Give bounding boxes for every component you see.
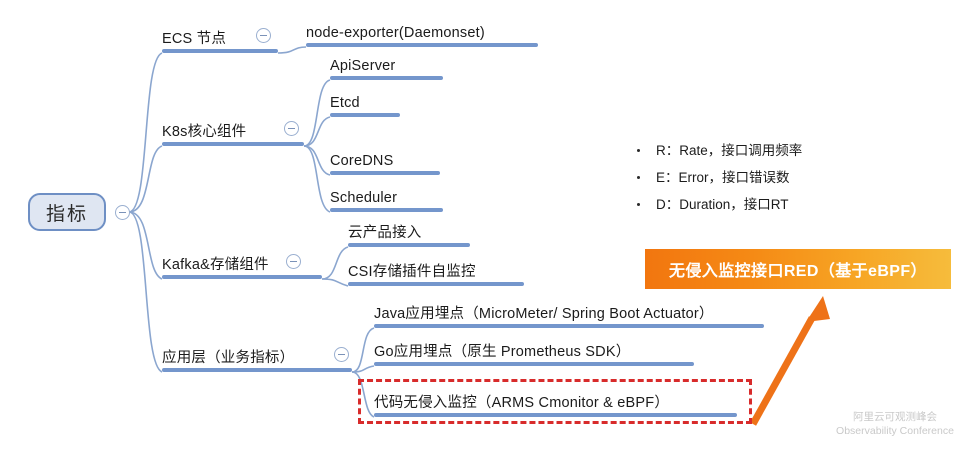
- branch-application[interactable]: 应用层（业务指标）: [162, 347, 352, 372]
- node-scheduler[interactable]: Scheduler: [330, 187, 443, 212]
- bullet-icon: [637, 149, 640, 152]
- watermark: 阿里云可观测峰会 Observability Conference: [832, 410, 958, 438]
- branch-application-collapse-toggle[interactable]: [334, 347, 349, 362]
- highlight-box: [358, 379, 752, 424]
- node-cloud-product-bar: [348, 243, 470, 247]
- watermark-line-en: Observability Conference: [832, 424, 958, 438]
- node-apiserver-label: ApiServer: [330, 58, 395, 75]
- bullet-icon: [637, 203, 640, 206]
- list-item-text: R：Rate，接口调用频率: [656, 143, 802, 158]
- list-item-text: E：Error，接口错误数: [656, 170, 790, 185]
- branch-kafka-bar: [162, 275, 322, 279]
- orange-arrow: [753, 296, 830, 424]
- branch-application-bar: [162, 368, 352, 372]
- branch-kafka-label: Kafka&存储组件: [162, 257, 269, 274]
- node-node-exporter-bar: [306, 43, 538, 47]
- list-item: E：Error，接口错误数: [630, 169, 930, 186]
- node-go-instrumentation-label: Go应用埋点（原生 Prometheus SDK）: [374, 344, 630, 361]
- node-go-instrumentation-bar: [374, 362, 694, 366]
- list-item-text: D：Duration，接口RT: [656, 197, 789, 212]
- node-java-instrumentation[interactable]: Java应用埋点（MicroMeter/ Spring Boot Actuato…: [374, 303, 764, 328]
- branch-k8s-collapse-toggle[interactable]: [284, 121, 299, 136]
- branch-k8s[interactable]: K8s核心组件: [162, 121, 304, 146]
- node-node-exporter-label: node-exporter(Daemonset): [306, 25, 485, 42]
- branch-k8s-bar: [162, 142, 304, 146]
- node-apiserver[interactable]: ApiServer: [330, 55, 443, 80]
- bullet-icon: [637, 176, 640, 179]
- root-node[interactable]: 指标: [28, 193, 106, 231]
- node-java-instrumentation-label: Java应用埋点（MicroMeter/ Spring Boot Actuato…: [374, 306, 714, 323]
- watermark-line-cn: 阿里云可观测峰会: [832, 410, 958, 424]
- mindmap-slide: 指标 ECS 节点 node-exporter(Daemonset) K8s核心…: [0, 0, 962, 456]
- node-node-exporter[interactable]: node-exporter(Daemonset): [306, 22, 538, 47]
- node-coredns[interactable]: CoreDNS: [330, 150, 440, 175]
- node-etcd-label: Etcd: [330, 95, 360, 112]
- node-java-instrumentation-bar: [374, 324, 764, 328]
- callout-banner: 无侵入监控接口RED（基于eBPF）: [645, 249, 951, 289]
- node-cloud-product-label: 云产品接入: [348, 225, 422, 242]
- branch-kafka-collapse-toggle[interactable]: [286, 254, 301, 269]
- branch-ecs-collapse-toggle[interactable]: [256, 28, 271, 43]
- branch-k8s-label: K8s核心组件: [162, 124, 246, 141]
- node-csi-storage-label: CSI存储插件自监控: [348, 264, 476, 281]
- node-scheduler-bar: [330, 208, 443, 212]
- node-etcd-bar: [330, 113, 400, 117]
- red-definition-list: R：Rate，接口调用频率 E：Error，接口错误数 D：Duration，接…: [630, 142, 930, 223]
- node-csi-storage[interactable]: CSI存储插件自监控: [348, 261, 524, 286]
- branch-application-label: 应用层（业务指标）: [162, 350, 294, 367]
- node-csi-storage-bar: [348, 282, 524, 286]
- list-item: R：Rate，接口调用频率: [630, 142, 930, 159]
- node-go-instrumentation[interactable]: Go应用埋点（原生 Prometheus SDK）: [374, 341, 694, 366]
- node-coredns-bar: [330, 171, 440, 175]
- node-coredns-label: CoreDNS: [330, 153, 393, 170]
- node-etcd[interactable]: Etcd: [330, 92, 400, 117]
- node-scheduler-label: Scheduler: [330, 190, 397, 207]
- branch-ecs-label: ECS 节点: [162, 31, 226, 48]
- root-collapse-toggle[interactable]: [115, 205, 130, 220]
- branch-ecs-bar: [162, 49, 278, 53]
- node-apiserver-bar: [330, 76, 443, 80]
- list-item: D：Duration，接口RT: [630, 196, 930, 213]
- node-cloud-product[interactable]: 云产品接入: [348, 222, 470, 247]
